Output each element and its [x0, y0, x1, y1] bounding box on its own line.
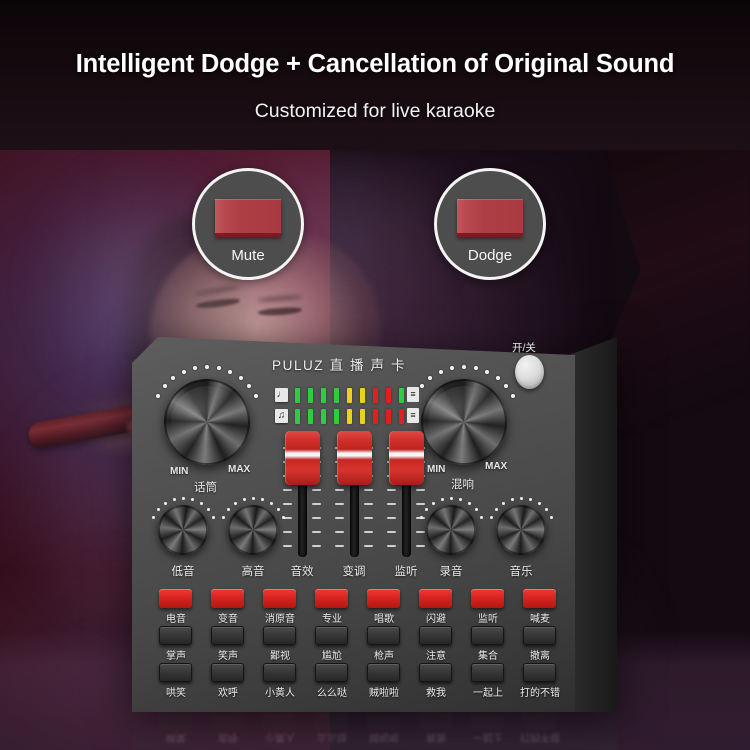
reflection-label: 么么哒 — [304, 731, 360, 746]
effect-button-label: 注意 — [408, 647, 464, 662]
bass-knob[interactable] — [158, 505, 208, 555]
effect-button-label: 救我 — [408, 684, 464, 699]
reflection-label: 打的不错 — [512, 731, 568, 746]
reflection-label: 小黄人 — [252, 731, 308, 746]
sound-card-device: PULUZ 直 播 声 卡 开/关 MIN MAX 话筒 MIN MAX 混响 … — [132, 337, 617, 712]
reflection-button — [523, 713, 556, 730]
effect-button[interactable] — [315, 589, 348, 608]
led-segment — [334, 388, 339, 403]
effect-button[interactable] — [315, 663, 348, 682]
fader-fx-label: 音效 — [274, 563, 330, 579]
effect-button-label: 闪避 — [408, 610, 464, 625]
effect-button[interactable] — [419, 589, 452, 608]
led-segment — [321, 409, 326, 424]
power-switch-label: 开/关 — [512, 340, 536, 355]
fader-pitch[interactable] — [331, 431, 377, 561]
effect-button[interactable] — [367, 589, 400, 608]
led-segment — [295, 409, 300, 424]
led-segment — [386, 388, 391, 403]
reverb-knob-max-label: MAX — [485, 461, 507, 472]
effect-button[interactable] — [471, 626, 504, 645]
reflection-button — [367, 713, 400, 730]
effect-button-label: 监听 — [460, 610, 516, 625]
led-segment — [347, 409, 352, 424]
reflection-button — [263, 713, 296, 730]
mute-button-swatch — [215, 199, 281, 237]
callout-dodge-label: Dodge — [437, 247, 543, 264]
effect-button-label: 枪声 — [356, 647, 412, 662]
music-note-icon: ♫ — [275, 409, 288, 423]
effect-button[interactable] — [159, 589, 192, 608]
led-segment — [360, 409, 365, 424]
effect-button[interactable] — [367, 626, 400, 645]
reverb-knob-min-label: MIN — [427, 464, 445, 475]
device-reflection: 哄笑欢呼小黄人么么哒贼啦啦救我一起上打的不错 — [132, 712, 617, 750]
effect-button[interactable] — [471, 589, 504, 608]
record-knob-label: 录音 — [423, 563, 479, 579]
meter-tail-icon: ≡ — [407, 387, 419, 402]
button-row-effects: 电音变音消原音专业唱歌闪避监听喊麦 — [148, 589, 560, 626]
music-knob-label: 音乐 — [493, 563, 549, 579]
button-row-sounds: 掌声笑声鄙视尴尬枪声注意集合撤离 — [148, 626, 560, 663]
effect-button-label: 变音 — [200, 610, 256, 625]
led-segment — [360, 388, 365, 403]
callout-mute-label: Mute — [195, 247, 301, 264]
effect-button-label: 尴尬 — [304, 647, 360, 662]
treble-knob[interactable] — [228, 505, 278, 555]
button-row-voices: 哄笑欢呼小黄人么么哒贼啦啦救我一起上打的不错 — [148, 663, 560, 700]
reflection-button — [419, 713, 452, 730]
reflection-label: 一起上 — [460, 731, 516, 746]
music-knob[interactable] — [496, 505, 546, 555]
led-segment — [386, 409, 391, 424]
effect-button[interactable] — [523, 663, 556, 682]
dodge-button-swatch — [457, 199, 523, 237]
reflection-label: 哄笑 — [148, 731, 204, 746]
mic-volume-knob[interactable] — [164, 379, 250, 465]
effect-button[interactable] — [367, 663, 400, 682]
record-knob[interactable] — [426, 505, 476, 555]
callout-mute: Mute — [192, 168, 304, 280]
led-segment — [334, 409, 339, 424]
reflection-label: 欢呼 — [200, 731, 256, 746]
effect-button-label: 哄笑 — [148, 684, 204, 699]
effect-button-label: 撤离 — [512, 647, 568, 662]
led-segment — [321, 388, 326, 403]
meter-tail-icon: ≡ — [407, 408, 419, 423]
led-segment — [373, 409, 378, 424]
effect-button-label: 消原音 — [252, 610, 308, 625]
device-brand-label: PULUZ 直 播 声 卡 — [272, 354, 406, 374]
led-segment — [373, 388, 378, 403]
led-segment — [399, 388, 404, 403]
effect-button[interactable] — [211, 663, 244, 682]
effect-button[interactable] — [419, 663, 452, 682]
led-segment — [347, 388, 352, 403]
effect-button[interactable] — [315, 626, 348, 645]
effect-button[interactable] — [523, 589, 556, 608]
effect-button[interactable] — [211, 589, 244, 608]
mic-knob-min-label: MIN — [170, 466, 188, 477]
effect-button-label: 一起上 — [460, 684, 516, 699]
reverb-knob-label: 混响 — [451, 476, 474, 492]
effect-button-label: 掌声 — [148, 647, 204, 662]
effect-button-label: 电音 — [148, 610, 204, 625]
bass-knob-label: 低音 — [155, 563, 211, 579]
reflection-button — [315, 713, 348, 730]
page-subheadline: Customized for live karaoke — [0, 100, 750, 123]
effect-button[interactable] — [263, 626, 296, 645]
effect-button-label: 欢呼 — [200, 684, 256, 699]
reflection-label: 救我 — [408, 731, 464, 746]
led-segment — [308, 409, 313, 424]
effect-button-label: 么么哒 — [304, 684, 360, 699]
led-segment — [308, 388, 313, 403]
effect-button[interactable] — [523, 626, 556, 645]
fader-cap[interactable] — [389, 431, 424, 485]
fader-cap[interactable] — [337, 431, 372, 485]
page-headline: Intelligent Dodge + Cancellation of Orig… — [0, 50, 750, 79]
device-side-wall — [569, 337, 617, 712]
effect-button[interactable] — [263, 589, 296, 608]
effect-button-label: 小黄人 — [252, 684, 308, 699]
fader-cap[interactable] — [285, 431, 320, 485]
reverb-knob[interactable] — [421, 379, 507, 465]
led-segment — [295, 388, 300, 403]
reflection-row: 哄笑欢呼小黄人么么哒贼啦啦救我一起上打的不错 — [132, 713, 617, 750]
effect-button-label: 专业 — [304, 610, 360, 625]
effect-button-label: 笑声 — [200, 647, 256, 662]
mic-knob-max-label: MAX — [228, 464, 250, 475]
microphone-icon: ♩ — [275, 388, 288, 402]
treble-knob-label: 高音 — [225, 563, 281, 579]
reflection-button — [211, 713, 244, 730]
effect-button[interactable] — [471, 663, 504, 682]
led-segment — [399, 409, 404, 424]
effect-button-label: 唱歌 — [356, 610, 412, 625]
effect-button[interactable] — [159, 626, 192, 645]
fader-pitch-label: 变调 — [326, 563, 382, 579]
effect-button[interactable] — [159, 663, 192, 682]
effect-button-label: 集合 — [460, 647, 516, 662]
reflection-button — [471, 713, 504, 730]
callout-dodge: Dodge — [434, 168, 546, 280]
reflection-label: 贼啦啦 — [356, 731, 412, 746]
effect-button-label: 鄙视 — [252, 647, 308, 662]
effect-button[interactable] — [419, 626, 452, 645]
effect-button[interactable] — [211, 626, 244, 645]
effect-button[interactable] — [263, 663, 296, 682]
reflection-button — [159, 713, 192, 730]
effect-button-label: 贼啦啦 — [356, 684, 412, 699]
effect-button-label: 喊麦 — [512, 610, 568, 625]
effect-button-grid: 电音变音消原音专业唱歌闪避监听喊麦 掌声笑声鄙视尴尬枪声注意集合撤离 哄笑欢呼小… — [148, 589, 560, 700]
effect-button-label: 打的不错 — [512, 684, 568, 699]
